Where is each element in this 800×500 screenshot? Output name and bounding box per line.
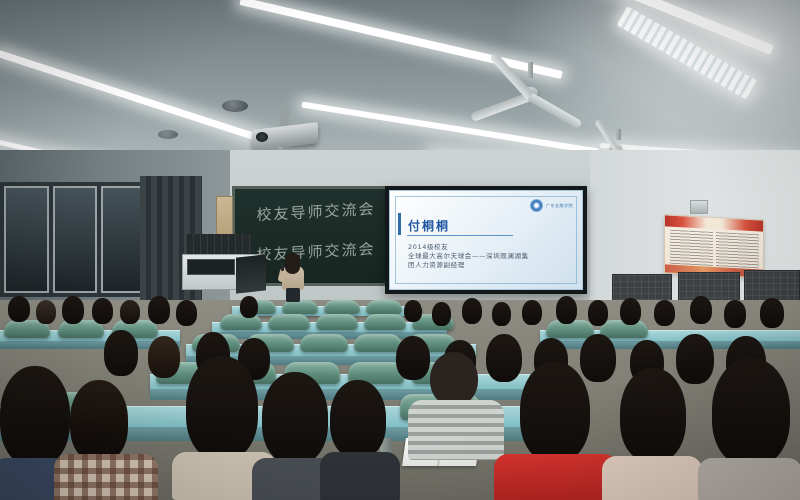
hair	[404, 300, 422, 322]
hair	[70, 380, 128, 462]
hair	[432, 302, 451, 326]
hair	[330, 380, 386, 458]
hair	[712, 358, 790, 466]
seat	[324, 300, 360, 314]
ceiling-speaker-dome	[158, 130, 178, 139]
hair	[0, 366, 70, 466]
wall-control-box	[690, 200, 708, 214]
hair	[580, 334, 616, 382]
torso	[698, 458, 800, 500]
slide-accent-bar	[398, 213, 401, 235]
ceiling-light-bar	[0, 50, 284, 149]
presenter	[280, 254, 306, 300]
university-logo: 广东金融学院	[530, 199, 573, 212]
window-pane	[53, 186, 98, 293]
slide-text-line3: 团人力资源副经理	[408, 261, 568, 270]
hair	[148, 296, 170, 324]
microphone	[281, 265, 284, 271]
av-rack-face	[187, 259, 235, 275]
torso-striped-shirt	[408, 400, 504, 460]
university-name: 广东金融学院	[546, 203, 573, 209]
torso-red-jacket	[494, 454, 618, 500]
equipment-rack	[186, 234, 252, 256]
hair	[724, 300, 746, 328]
presentation-slide: 广东金融学院 付桐桐 2014级校友 全球最大高尔夫球会——深圳观澜湖集 团人力…	[389, 190, 583, 290]
ceiling-projector	[252, 118, 318, 148]
hair	[36, 300, 56, 324]
hair	[492, 302, 511, 326]
hair	[690, 296, 712, 324]
seat	[300, 334, 348, 352]
wall-poster	[664, 214, 764, 278]
hair	[654, 300, 675, 326]
hair	[120, 300, 140, 324]
projection-screen: 广东金融学院 付桐桐 2014级校友 全球最大高尔夫球会——深圳观澜湖集 团人力…	[385, 186, 587, 294]
seat	[364, 314, 406, 330]
hair	[104, 330, 138, 376]
hair	[620, 298, 641, 325]
hair	[396, 336, 430, 380]
university-seal-icon	[530, 199, 543, 212]
hair	[760, 298, 784, 328]
hair	[186, 356, 258, 460]
ceiling-speaker-dome	[222, 100, 248, 112]
slide-text-line1: 2014级校友	[408, 243, 568, 252]
slide-divider	[407, 235, 513, 236]
head	[430, 352, 478, 406]
seat	[354, 334, 402, 352]
poster-text-column	[670, 230, 713, 266]
hair	[62, 296, 84, 324]
projector-lens	[256, 132, 268, 142]
torso	[602, 456, 702, 500]
hair	[522, 300, 542, 325]
seat	[316, 314, 358, 330]
fan-rod	[616, 129, 621, 140]
slide-speaker-name: 付桐桐	[408, 217, 450, 234]
seat	[268, 314, 310, 330]
hair	[588, 300, 608, 326]
lectern	[236, 254, 266, 293]
torso	[320, 452, 400, 500]
hair	[486, 334, 522, 382]
window-bank	[0, 182, 150, 297]
blackboard-text-line1: 校友导师交流会	[235, 197, 397, 226]
lecture-hall-photo: 校友导师交流会 校友导师交流会 广东金融学院 付桐桐 2014级校友 全球最大高…	[0, 0, 800, 500]
window-pane	[4, 186, 49, 293]
presenter-skirt	[286, 288, 300, 302]
hair	[620, 368, 686, 462]
presenter-hair-back	[285, 260, 300, 274]
hair	[240, 296, 258, 318]
hair	[676, 334, 714, 384]
hair	[92, 298, 113, 324]
torso-plaid-coat	[54, 454, 158, 500]
hair	[556, 296, 577, 324]
hair	[176, 300, 197, 326]
fan-rod	[528, 62, 533, 78]
seat	[220, 314, 262, 330]
ceiling-fan	[470, 75, 590, 109]
hair	[148, 336, 180, 378]
slide-text-line2: 全球最大高尔夫球会——深圳观澜湖集	[408, 252, 568, 261]
hair	[462, 298, 482, 324]
poster-text-column	[716, 232, 759, 268]
seat	[366, 300, 402, 314]
hair	[262, 372, 328, 464]
hair	[8, 296, 30, 322]
poster-banner	[665, 215, 763, 231]
hair	[520, 362, 590, 462]
seat	[282, 300, 318, 314]
